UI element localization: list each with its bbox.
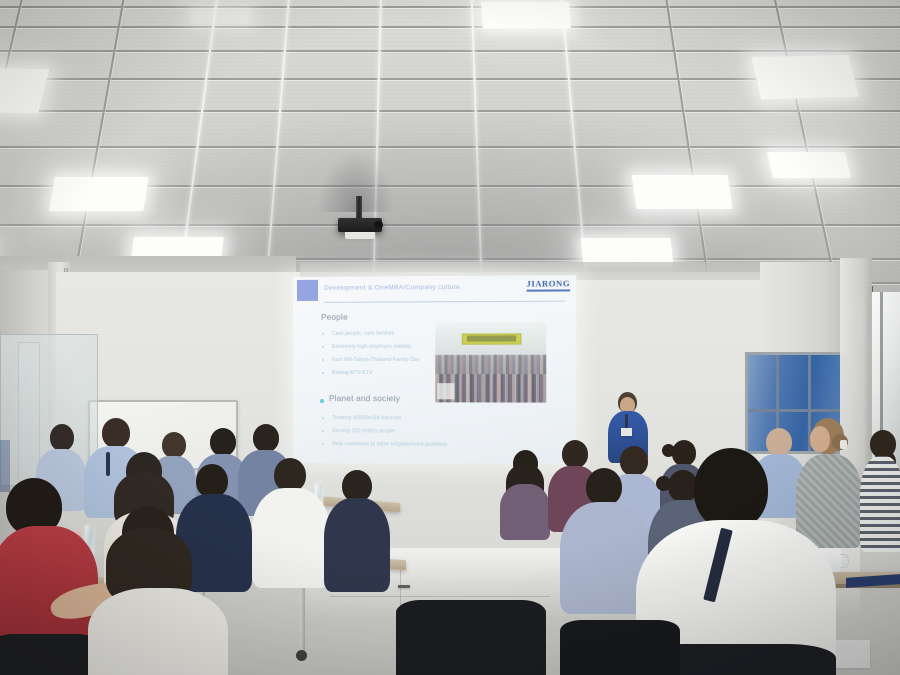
logo-text: JIARONG <box>526 279 570 288</box>
body <box>324 498 390 592</box>
audience-member <box>396 600 546 675</box>
head <box>274 458 306 492</box>
slide-bullet: East Hill-Sanya-Thailand-Family Day <box>332 357 420 363</box>
ceiling-light-panel <box>481 2 571 28</box>
head <box>50 424 74 451</box>
slide-bullet: Bobing-RTV-KTV <box>332 370 373 376</box>
bullet-dot <box>322 359 324 361</box>
head <box>210 428 236 456</box>
head <box>694 448 768 530</box>
audience-member <box>252 458 330 584</box>
head <box>562 440 588 468</box>
head <box>102 418 130 448</box>
ceiling-light-panel <box>192 8 250 24</box>
audience-member <box>88 506 228 675</box>
audience-member <box>860 430 900 550</box>
body <box>860 456 900 552</box>
bullet-dot <box>322 372 324 374</box>
desk-caster <box>296 650 307 661</box>
chair-back <box>396 600 546 675</box>
slide-bullet: Treating 40000m3/d leachate <box>332 415 401 421</box>
cup-handle <box>840 554 849 568</box>
body <box>88 588 228 675</box>
photo-stage-desk <box>437 383 455 399</box>
chair-back <box>0 634 100 675</box>
body <box>252 488 330 588</box>
ceiling-light-panel <box>751 55 858 100</box>
projector-mount-pole <box>356 196 362 220</box>
conference-room-photo: Development & OneMBA/Company culture JIA… <box>0 0 900 675</box>
jiarong-logo: JIARONG <box>526 279 570 292</box>
slide-section-heading: People <box>321 313 348 322</box>
projected-slide: Development & OneMBA/Company culture JIA… <box>293 275 576 465</box>
head <box>870 430 896 458</box>
audience-member <box>560 620 680 675</box>
projector-underside <box>345 232 375 239</box>
slide-header: Development & OneMBA/Company culture JIA… <box>293 275 576 303</box>
slide-header-rule <box>324 301 565 303</box>
slide-bullet: Care people, care families <box>332 331 394 337</box>
floor-debris <box>398 585 410 588</box>
ceiling-light-panel <box>632 175 733 209</box>
door-mullion <box>748 409 844 412</box>
slide-bullet: Extremely high employee stability <box>332 344 412 350</box>
projector-lens <box>374 221 383 229</box>
head <box>196 464 228 498</box>
suspended-ceiling <box>0 0 900 300</box>
bullet-dot <box>322 430 324 432</box>
presenter-badge <box>621 428 632 436</box>
head <box>586 468 622 506</box>
slide-bullet: Serving 150 million people <box>332 428 395 434</box>
floor-tile-seam <box>330 596 550 597</box>
body <box>500 484 550 540</box>
slide-group-photo <box>435 322 546 402</box>
photo-banner-text <box>467 336 515 342</box>
bullet-dot <box>322 417 324 419</box>
logo-underline <box>526 289 570 292</box>
slide-section-heading: Planet and society <box>329 394 400 403</box>
audience-member <box>324 470 390 588</box>
bullet-dot <box>322 346 324 348</box>
bullet-dot <box>322 333 324 335</box>
ceiling-light-panel <box>49 177 148 211</box>
slide-title: Development & OneMBA/Company culture <box>324 284 460 292</box>
chair-back <box>560 620 680 675</box>
hair-clip <box>840 440 847 449</box>
slide-bullet: Help customers to solve neighborhood pro… <box>332 441 447 448</box>
photo-banner <box>462 333 522 344</box>
section-bullet-dot <box>320 399 324 403</box>
bullet-dot <box>322 443 324 445</box>
slide-accent-square <box>297 280 318 301</box>
head <box>253 424 279 452</box>
ceiling-light-panel <box>767 152 851 178</box>
audience-member <box>500 450 550 528</box>
